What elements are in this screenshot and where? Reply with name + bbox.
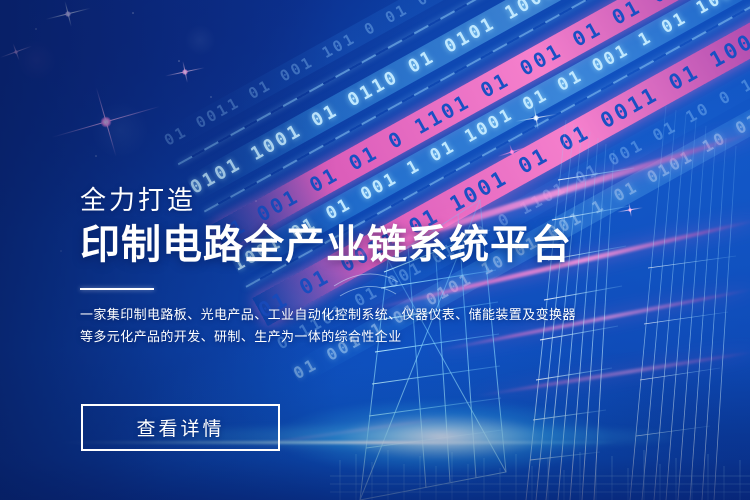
hero-description: 一家集印制电路板、光电产品、工业自动化控制系统、仪器仪表、储能装置及变换器 等多… <box>80 304 640 348</box>
hero-banner: 01 0011 01 001 101 0 01 0011 01 001 101 … <box>0 0 750 500</box>
hero-divider <box>80 288 154 290</box>
hero-description-line-2: 等多元化产品的开发、研制、生产为一体的综合性企业 <box>80 326 640 348</box>
hero-headline: 印制电路全产业链系统平台 <box>80 223 640 268</box>
view-details-button[interactable]: 查看详情 <box>81 404 280 451</box>
hero-eyebrow: 全力打造 <box>80 186 640 216</box>
hero-description-line-1: 一家集印制电路板、光电产品、工业自动化控制系统、仪器仪表、储能装置及变换器 <box>80 304 640 326</box>
hero-content: 全力打造 印制电路全产业链系统平台 一家集印制电路板、光电产品、工业自动化控制系… <box>80 186 640 348</box>
